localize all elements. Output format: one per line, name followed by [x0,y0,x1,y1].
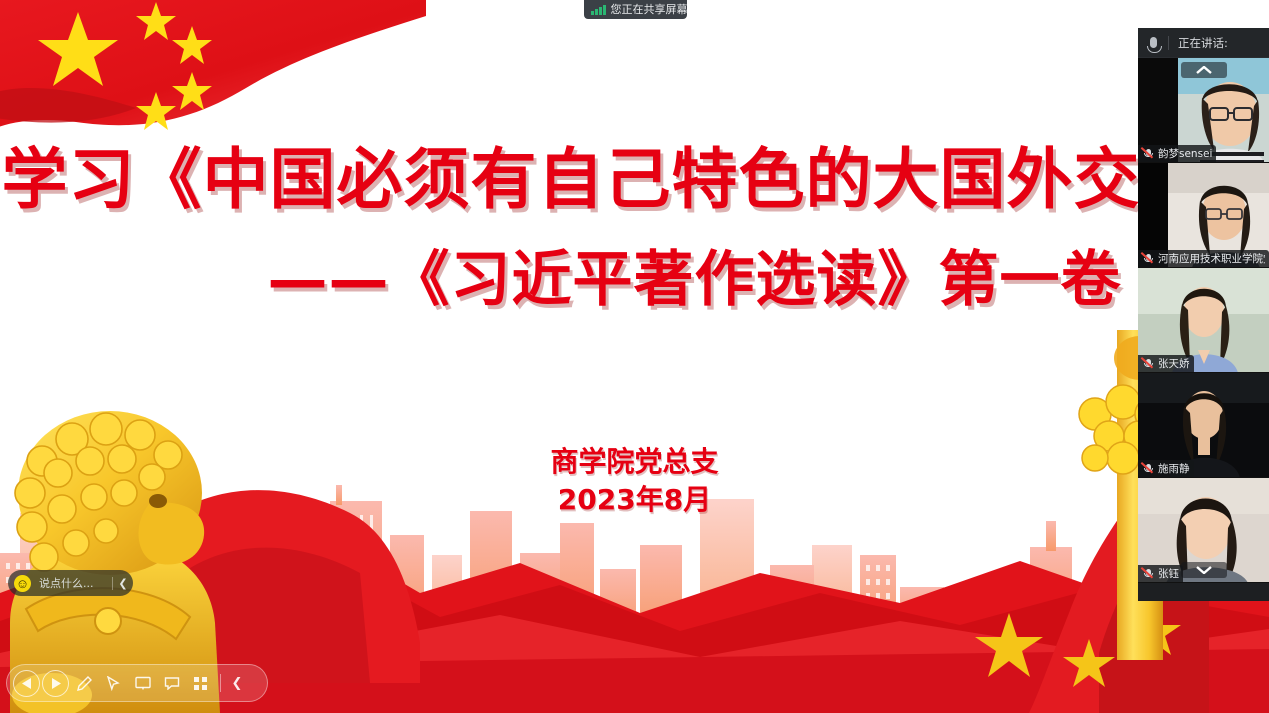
participant-name: 韵梦sensei [1158,146,1212,161]
participant-name-badge: 河南应用技术职业学院党 [1138,250,1269,267]
signal-bars-icon [591,5,606,15]
chevron-left-icon[interactable]: ❮ [113,577,133,590]
participant-tile[interactable]: 河南应用技术职业学院党 [1138,163,1269,268]
speech-bubble-icon [164,676,180,690]
shared-presentation-slide: 学习《中国必须有自己特色的大国外交》 ——《习近平著作选读》第一卷 商学院党总支… [0,0,1269,713]
presentation-toolbar[interactable]: ❮ [6,664,268,702]
speaking-now-label: 正在讲话: [1178,35,1228,51]
chevron-up-icon [1196,66,1212,74]
screen-sharing-banner[interactable]: 您正在共享屏幕 [584,0,687,19]
participant-name: 施雨静 [1158,461,1190,476]
participant-tile[interactable]: 韵梦sensei [1138,58,1269,163]
toolbar-collapse-chevron-left-icon[interactable]: ❮ [227,675,247,691]
participant-name-badge: 张天娇 [1138,355,1194,372]
laser-pointer-button[interactable] [100,670,127,697]
slide-title-line-1: 学习《中国必须有自己特色的大国外交》 [0,132,1269,228]
pen-icon [77,676,92,691]
previous-slide-button[interactable] [13,670,40,697]
toolbar-divider [220,674,221,692]
chinese-flag-graphic [0,0,426,146]
sharing-status-text: 您正在共享屏幕 [611,0,688,19]
speaking-now-header: 正在讲话: [1138,28,1269,58]
scroll-down-button[interactable] [1181,562,1227,578]
annotate-pen-button[interactable] [71,670,98,697]
participant-name: 河南应用技术职业学院党 [1158,251,1265,266]
header-divider [1168,36,1169,50]
mic-muted-icon [1141,356,1156,371]
microphone-icon [1138,37,1168,48]
participant-tile[interactable]: 施雨静 [1138,373,1269,478]
slide-subtitle-block: 商学院党总支 2023年8月 [0,444,1269,518]
comment-input-placeholder[interactable]: 说点什么... [39,575,112,591]
pointer-icon [106,676,121,691]
board-icon [135,676,151,690]
slide-date: 2023年8月 [0,482,1269,518]
more-tools-button[interactable] [187,670,214,697]
smiley-icon[interactable]: ☺ [14,575,31,592]
mic-muted-icon [1141,461,1156,476]
mic-muted-icon [1141,251,1156,266]
participant-name: 张天娇 [1158,356,1190,371]
gold-lion-statue-graphic [0,373,300,713]
participant-name: 张钰 [1158,566,1179,581]
chevron-down-icon [1196,566,1212,574]
mic-muted-icon [1141,566,1156,581]
participant-sidebar: 正在讲话: [1138,28,1269,601]
screen-share-meeting-window: 学习《中国必须有自己特色的大国外交》 ——《习近平著作选读》第一卷 商学院党总支… [0,0,1269,713]
participant-tile[interactable]: 张天娇 [1138,268,1269,373]
participant-name-badge: 韵梦sensei [1138,145,1216,162]
comment-input-bar[interactable]: ☺ 说点什么... ❮ [8,570,133,596]
triangle-right-icon [51,678,61,689]
slide-title-block: 学习《中国必须有自己特色的大国外交》 ——《习近平著作选读》第一卷 [0,132,1269,326]
triangle-left-icon [22,678,32,689]
slide-organization: 商学院党总支 [0,444,1269,480]
scroll-up-button[interactable] [1181,62,1227,78]
blackboard-button[interactable] [129,670,156,697]
play-slide-button[interactable] [42,670,69,697]
grid-icon [193,676,208,691]
slide-title-line-2: ——《习近平著作选读》第一卷 [120,234,1269,326]
chat-button[interactable] [158,670,185,697]
mic-muted-icon [1141,146,1156,161]
participant-name-badge: 张钰 [1138,565,1183,582]
participant-tile[interactable]: 张钰 [1138,478,1269,583]
participant-name-badge: 施雨静 [1138,460,1194,477]
